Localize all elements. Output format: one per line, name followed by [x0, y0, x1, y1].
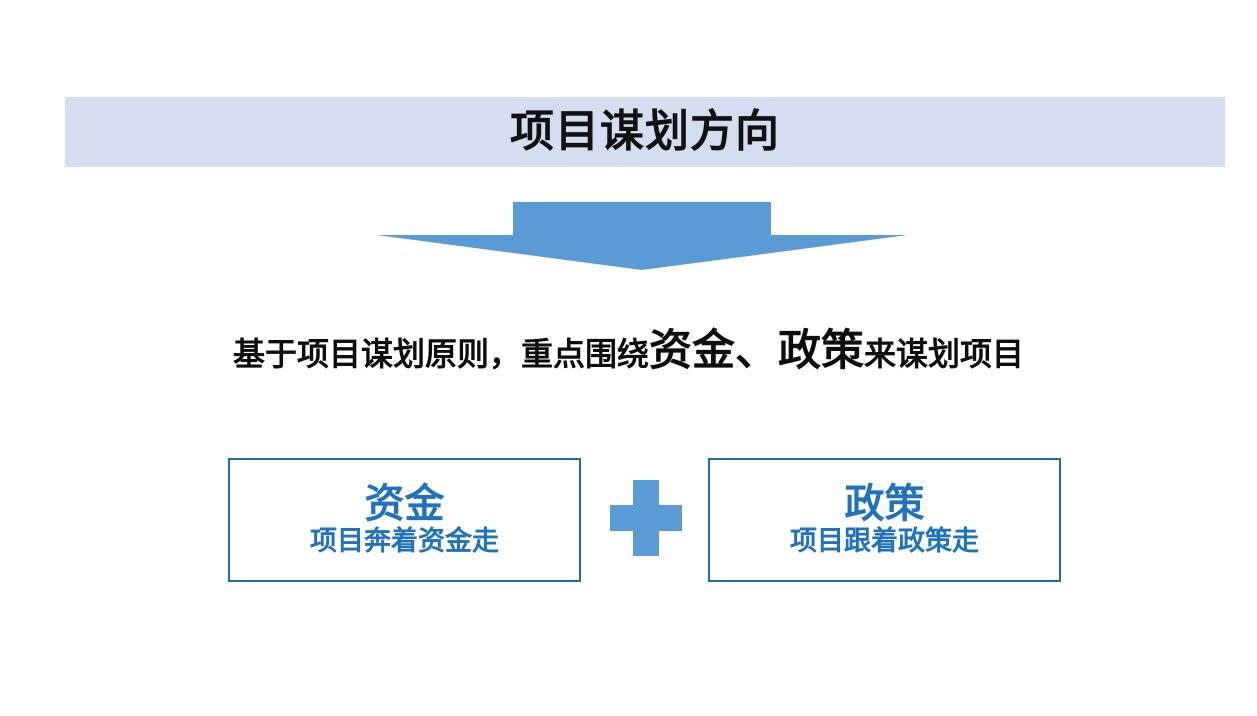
plus-icon-vertical-bar [633, 480, 659, 556]
page-title-banner: 项目谋划方向 [65, 97, 1225, 167]
page-title: 项目谋划方向 [510, 110, 780, 154]
concept-card-policy[interactable]: 政策 项目跟着政策走 [708, 458, 1061, 582]
concept-row: 资金 项目奔着资金走 政策 项目跟着政策走 [228, 458, 1063, 584]
statement-emphasis: 资金、政策 [649, 327, 864, 375]
down-arrow-icon [376, 202, 908, 272]
statement-suffix: 来谋划项目 [864, 336, 1024, 372]
concept-subtitle-policy: 项目跟着政策走 [790, 527, 979, 557]
concept-subtitle-funding: 项目奔着资金走 [310, 527, 499, 557]
main-statement: 基于项目谋划原则，重点围绕资金、政策来谋划项目 [0, 330, 1257, 373]
plus-icon [610, 480, 682, 556]
concept-heading-policy: 政策 [845, 483, 925, 525]
concept-card-funding[interactable]: 资金 项目奔着资金走 [228, 458, 581, 582]
concept-heading-funding: 资金 [365, 483, 445, 525]
statement-prefix: 基于项目谋划原则，重点围绕 [233, 336, 649, 372]
